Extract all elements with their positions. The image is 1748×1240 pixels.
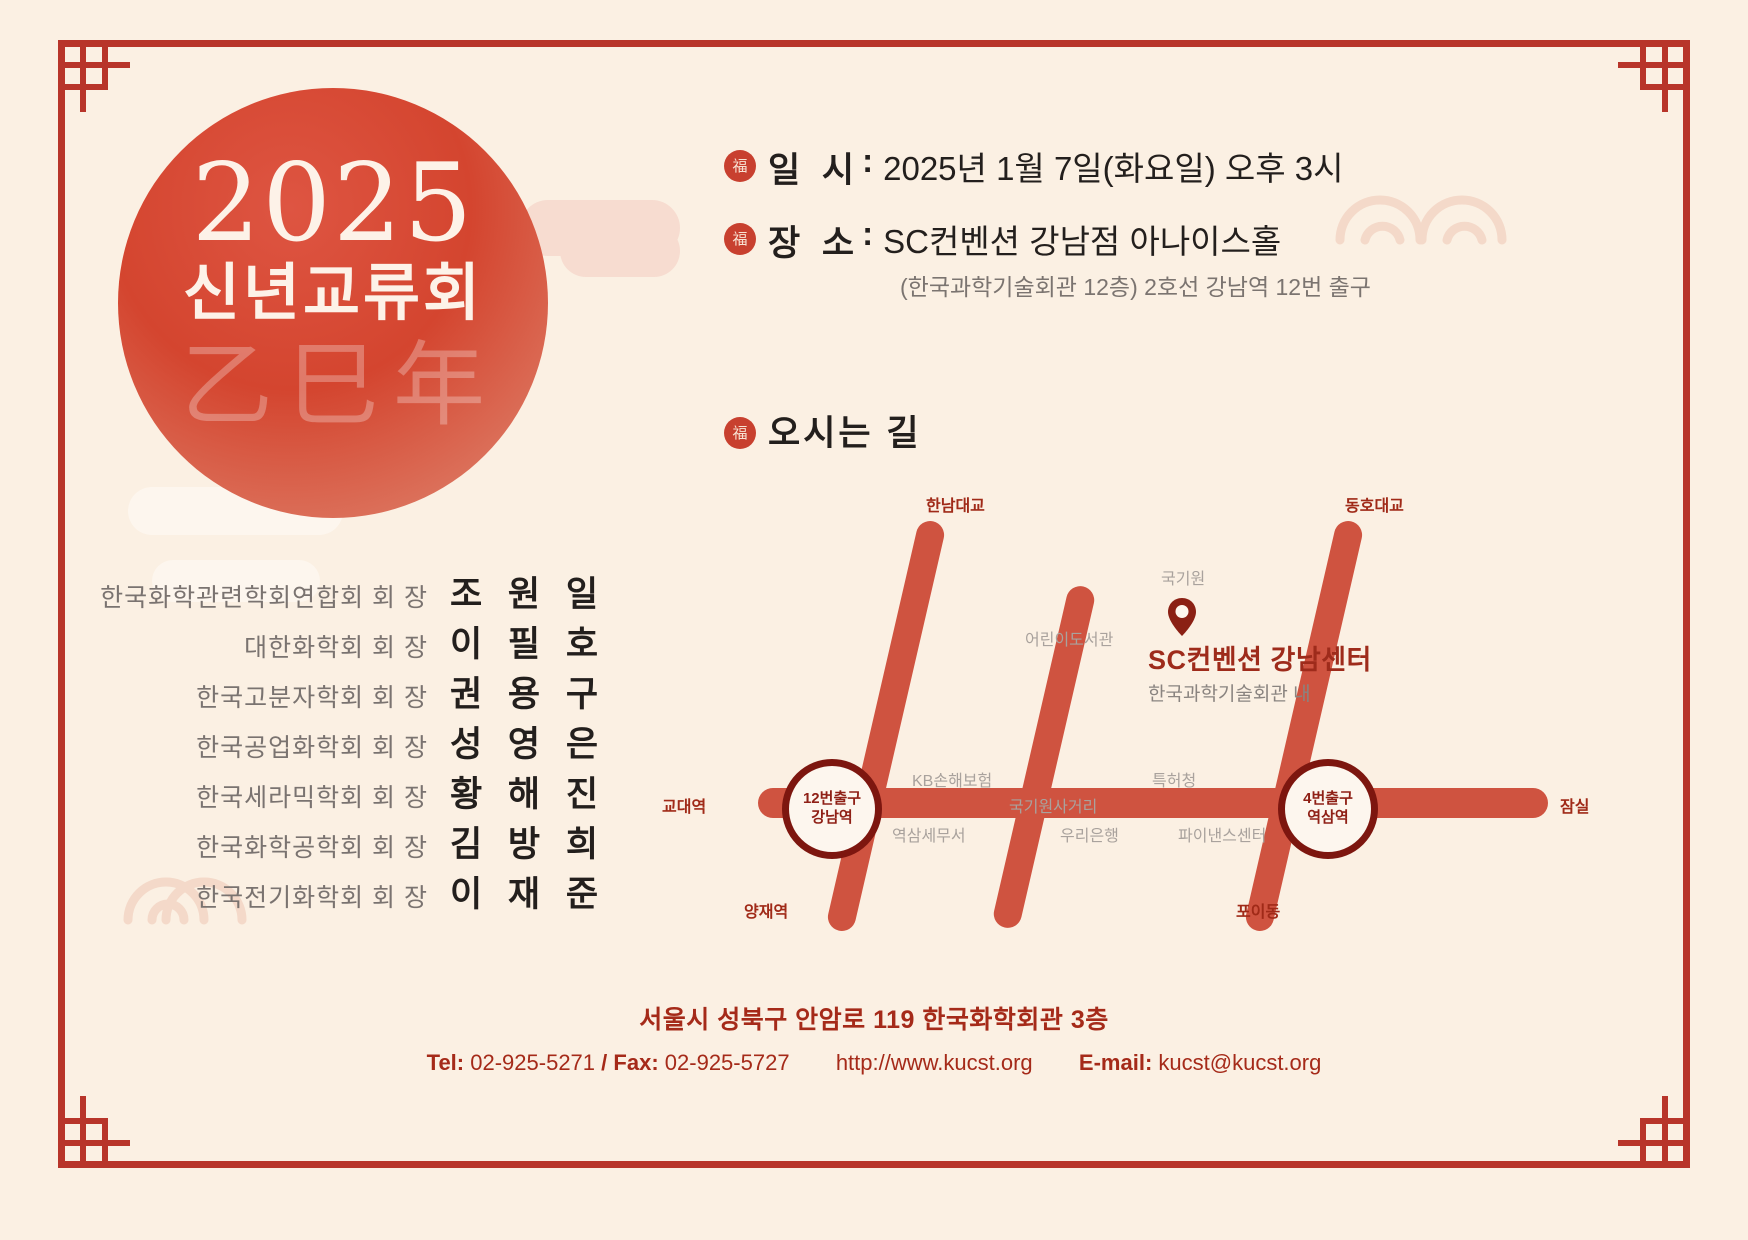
bok-seal-icon: 福 bbox=[724, 150, 756, 182]
officer-org: 한국전기화학회 회 장 bbox=[196, 878, 428, 914]
frame-border-bottom bbox=[58, 1161, 1690, 1168]
list-item: 한국세라믹학회 회 장 황 해 진 bbox=[120, 766, 580, 814]
map-poi-gukgiwon: 국기원 bbox=[1161, 565, 1205, 589]
datetime-label: 일 시 bbox=[768, 142, 860, 193]
venue-detail: 한국과학기술회관 내 bbox=[1148, 679, 1372, 706]
venue-value: SC컨벤션 강남점 아나이스홀 bbox=[883, 215, 1281, 263]
tel-label: Tel: bbox=[427, 1050, 464, 1075]
map-poi-yeoksam-tax-office: 역삼세무서 bbox=[892, 822, 966, 846]
venue-name: SC컨벤션 강남센터 bbox=[1148, 638, 1372, 677]
datetime-value: 2025년 1월 7일(화요일) 오후 3시 bbox=[883, 142, 1343, 190]
corner-ornament-icon bbox=[58, 1096, 130, 1168]
officer-name: 이 필 호 bbox=[450, 616, 580, 667]
cloud-decoration-icon bbox=[560, 225, 680, 277]
info-row-datetime: 福 일 시 : 2025년 1월 7일(화요일) 오후 3시 bbox=[724, 142, 1504, 193]
map-poi-finance-center: 파이낸스센터 bbox=[1178, 822, 1266, 846]
map-road-hannam bbox=[825, 518, 947, 934]
officer-name: 이 재 준 bbox=[450, 866, 580, 917]
bok-seal-icon: 福 bbox=[724, 223, 756, 255]
fax-value: 02-925-5727 bbox=[665, 1050, 790, 1075]
map-pin-icon bbox=[1167, 597, 1197, 637]
map-endpoint-gyodae: 교대역 bbox=[662, 793, 706, 817]
footer: 서울시 성북구 안암로 119 한국화학회관 3층 Tel: 02-925-52… bbox=[0, 1000, 1748, 1076]
bok-seal-icon: 福 bbox=[724, 417, 756, 449]
venue-label: 장 소 bbox=[768, 215, 860, 266]
email-link[interactable]: kucst@kucst.org bbox=[1158, 1050, 1321, 1075]
map-endpoint-donghodaegyo: 동호대교 bbox=[1345, 492, 1404, 516]
map-poi-patent-office: 특허청 bbox=[1152, 767, 1196, 791]
map-endpoint-hannamdaegyo: 한남대교 bbox=[926, 492, 985, 516]
info-row-venue: 福 장 소 : SC컨벤션 강남점 아나이스홀 (한국과학기술회관 12층) 2… bbox=[724, 215, 1504, 302]
datetime-colon: : bbox=[862, 142, 873, 180]
hero-year: 2025 bbox=[118, 150, 548, 258]
hero-title: 신년교류회 bbox=[118, 263, 548, 325]
station-name: 강남역 bbox=[811, 809, 852, 828]
map-station-gangnam[interactable]: 12번출구 강남역 bbox=[782, 759, 882, 859]
ghost-year-text: 乙巳年 bbox=[175, 340, 505, 432]
map-venue-label: SC컨벤션 강남센터 한국과학기술회관 내 bbox=[1148, 638, 1372, 706]
email-label: E-mail: bbox=[1079, 1050, 1152, 1075]
map-poi-childrens-library: 어린이도서관 bbox=[1025, 626, 1113, 650]
location-map: 한남대교 동호대교 교대역 잠실 양재역 포이동 국기원 어린이도서관 KB손해… bbox=[640, 470, 1700, 940]
officer-org: 대한화학회 회 장 bbox=[244, 628, 428, 664]
route-heading-label: 오시는 길 bbox=[768, 405, 922, 456]
officer-name: 김 방 희 bbox=[450, 816, 580, 867]
list-item: 한국고분자학회 회 장 권 용 구 bbox=[120, 666, 580, 714]
officer-org: 한국화학공학회 회 장 bbox=[196, 828, 428, 864]
footer-contact: Tel: 02-925-5271 / Fax: 02-925-5727 http… bbox=[0, 1050, 1748, 1076]
station-name: 역삼역 bbox=[1307, 809, 1348, 828]
map-endpoint-poidong: 포이동 bbox=[1236, 898, 1280, 922]
officer-org: 한국화학관련학회연합회 회 장 bbox=[100, 578, 428, 614]
map-road-dongho bbox=[1243, 518, 1365, 934]
map-poi-kb-insurance: KB손해보험 bbox=[912, 767, 992, 791]
list-item: 한국화학관련학회연합회 회 장 조 원 일 bbox=[120, 566, 580, 614]
map-poi-gukgiwon-intersection: 국기원사거리 bbox=[1009, 793, 1097, 817]
corner-ornament-icon bbox=[1618, 40, 1690, 112]
officer-name: 조 원 일 bbox=[450, 566, 580, 617]
map-poi-woori-bank: 우리은행 bbox=[1060, 822, 1119, 846]
frame-border-top bbox=[58, 40, 1690, 47]
officer-org: 한국고분자학회 회 장 bbox=[196, 678, 428, 714]
list-item: 한국공업화학회 회 장 성 영 은 bbox=[120, 716, 580, 764]
frame-border-left bbox=[58, 40, 65, 1168]
officer-name: 황 해 진 bbox=[450, 766, 580, 817]
fax-label: Fax: bbox=[613, 1050, 658, 1075]
officers-list: 한국화학관련학회연합회 회 장 조 원 일 대한화학회 회 장 이 필 호 한국… bbox=[120, 566, 580, 916]
station-exit: 12번출구 bbox=[803, 790, 861, 809]
corner-ornament-icon bbox=[1618, 1096, 1690, 1168]
footer-address: 서울시 성북구 안암로 119 한국화학회관 3층 bbox=[0, 1000, 1748, 1036]
venue-subtext: (한국과학기술회관 12층) 2호선 강남역 12번 출구 bbox=[900, 268, 1504, 302]
officer-org: 한국공업화학회 회 장 bbox=[196, 728, 428, 764]
tel-value: 02-925-5271 bbox=[470, 1050, 595, 1075]
officer-name: 성 영 은 bbox=[450, 716, 580, 767]
map-station-yeoksam[interactable]: 4번출구 역삼역 bbox=[1278, 759, 1378, 859]
poster-root: 乙巳年 2025 신년교류회 福 일 시 : 2025년 1월 7일(화요일) … bbox=[0, 0, 1748, 1240]
event-info-block: 福 일 시 : 2025년 1월 7일(화요일) 오후 3시 福 장 소 : S… bbox=[724, 142, 1504, 302]
list-item: 한국화학공학회 회 장 김 방 희 bbox=[120, 816, 580, 864]
contact-separator: / bbox=[601, 1050, 607, 1075]
map-endpoint-yangjae: 양재역 bbox=[744, 898, 788, 922]
corner-ornament-icon bbox=[58, 40, 130, 112]
route-heading: 福 오시는 길 bbox=[724, 405, 922, 456]
website-link[interactable]: http://www.kucst.org bbox=[836, 1050, 1033, 1075]
list-item: 한국전기화학회 회 장 이 재 준 bbox=[120, 866, 580, 914]
map-endpoint-jamsil: 잠실 bbox=[1560, 793, 1589, 817]
station-exit: 4번출구 bbox=[1303, 790, 1353, 809]
list-item: 대한화학회 회 장 이 필 호 bbox=[120, 616, 580, 664]
officer-name: 권 용 구 bbox=[450, 666, 580, 717]
officer-org: 한국세라믹학회 회 장 bbox=[196, 778, 428, 814]
venue-colon: : bbox=[862, 215, 873, 253]
